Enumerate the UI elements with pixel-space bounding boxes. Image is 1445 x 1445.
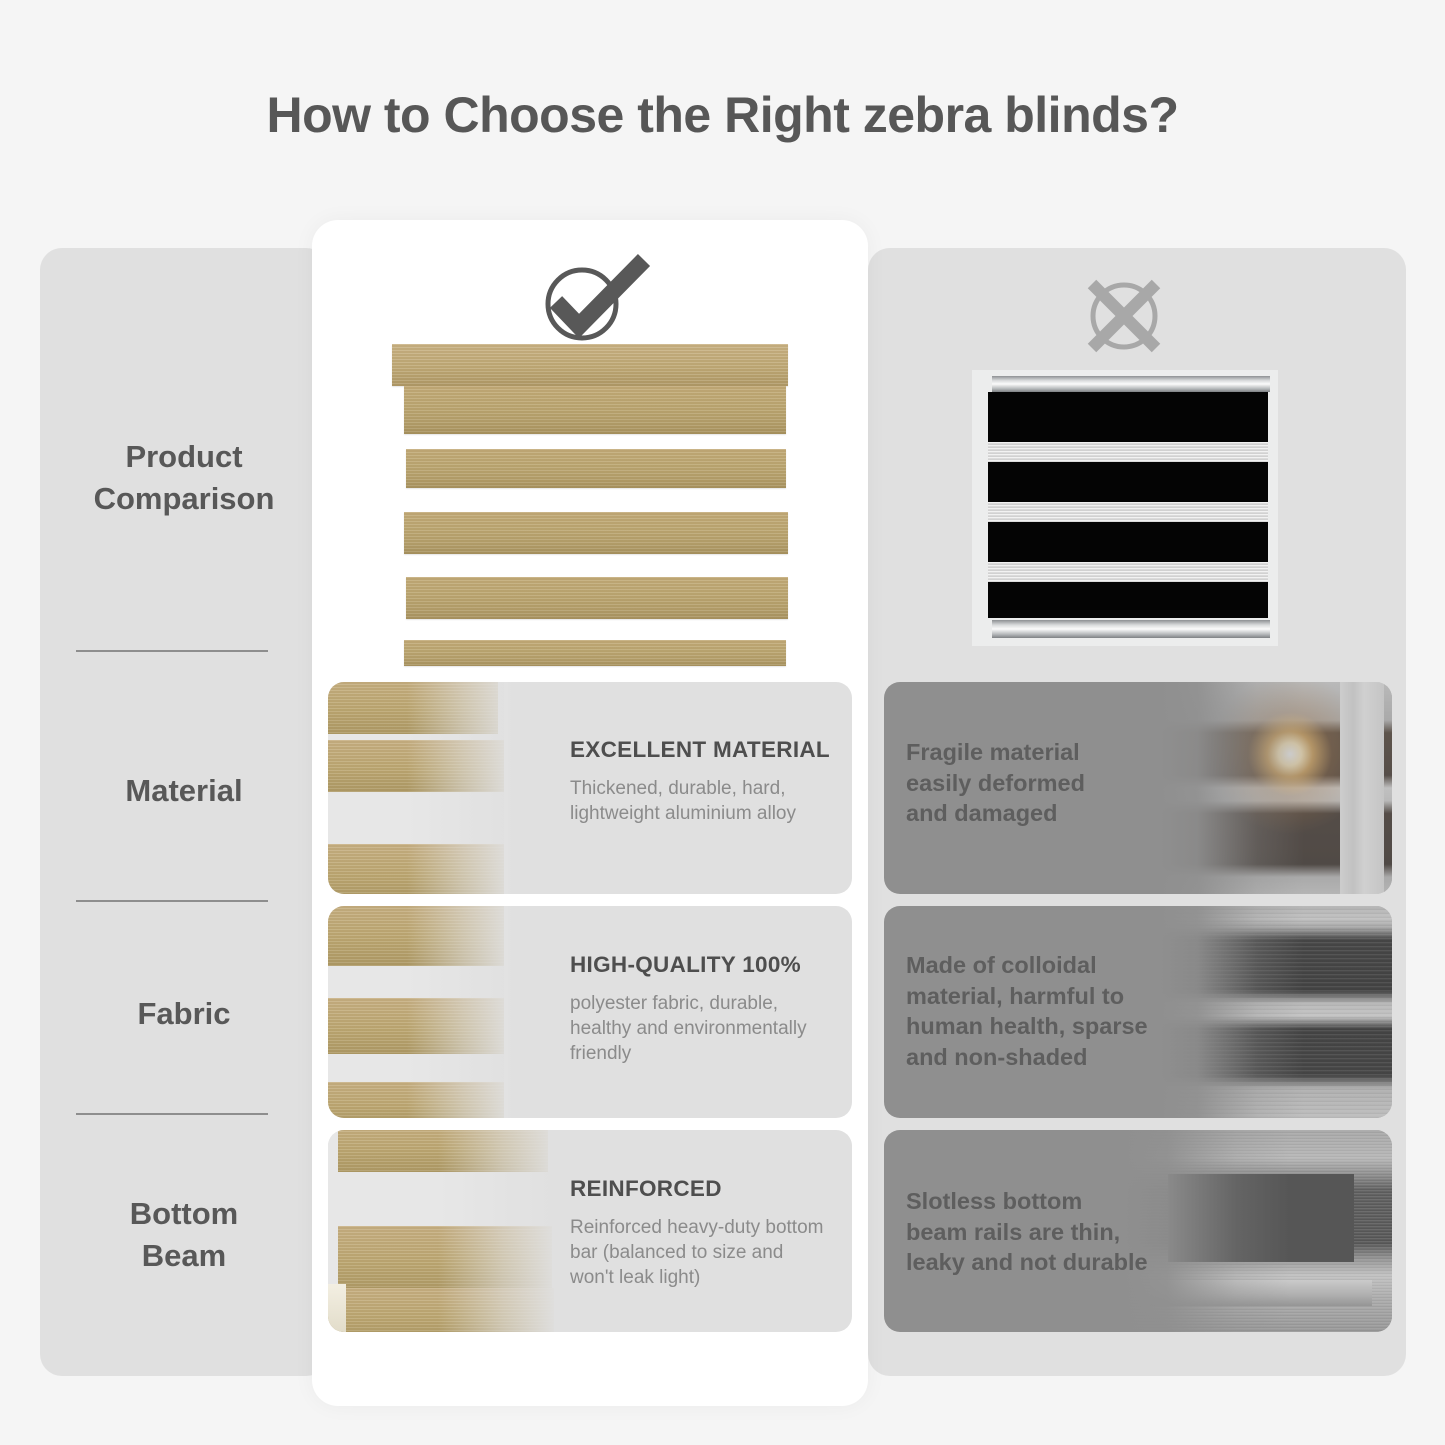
bad-card-fabric: Made of colloidal material, harmful to h…: [884, 906, 1392, 1118]
sidebar-item-label-line1: Bottom: [40, 1193, 328, 1235]
sidebar-item-label-line2: Beam: [40, 1235, 328, 1277]
bad-product-hero-image: [972, 370, 1278, 646]
good-product-hero-image: [392, 344, 788, 666]
bottom-beam-good-heading: REINFORCED: [570, 1176, 842, 1202]
fabric-bad-text-line: and non-shaded: [906, 1042, 1226, 1073]
cross-circle-icon: [1076, 272, 1172, 360]
material-bad-text-line: Fragile material: [906, 737, 1206, 768]
sidebar-divider-2: [76, 900, 268, 902]
bottom-beam-bad-text-line: leaky and not durable: [906, 1247, 1206, 1278]
sidebar-item-label-line1: Material: [40, 770, 328, 812]
sidebar-item-product-comparison: Product Comparison: [40, 436, 328, 520]
bottom-beam-bad-text-line: beam rails are thin,: [906, 1217, 1206, 1248]
material-good-body-line: Thickened, durable, hard,: [570, 776, 838, 801]
sidebar-item-label-line2: Comparison: [40, 478, 328, 520]
material-good-body-line: lightweight aluminium alloy: [570, 801, 838, 826]
material-good-heading: EXCELLENT MATERIAL: [570, 737, 838, 763]
fabric-good-body: polyester fabric, durable, healthy and e…: [570, 991, 845, 1066]
material-good-photo: [328, 682, 560, 894]
sidebar-item-label-line1: Product: [40, 436, 328, 478]
sidebar-item-material: Material: [40, 770, 328, 812]
material-bad-text-line: easily deformed: [906, 768, 1206, 799]
fabric-good-body-line: friendly: [570, 1041, 845, 1066]
material-good-text: EXCELLENT MATERIAL Thickened, durable, h…: [570, 737, 838, 826]
bottom-beam-bad-text-line: Slotless bottom: [906, 1186, 1206, 1217]
material-bad-text-line: and damaged: [906, 798, 1206, 829]
fabric-good-body-line: polyester fabric, durable,: [570, 991, 845, 1016]
fabric-good-body-line: healthy and environmentally: [570, 1016, 845, 1041]
bad-card-material: Fragile material easily deformed and dam…: [884, 682, 1392, 894]
sidebar-item-label-line1: Fabric: [40, 993, 328, 1035]
bottom-beam-good-body-line: bar (balanced to size and: [570, 1240, 842, 1265]
material-good-body: Thickened, durable, hard, lightweight al…: [570, 776, 838, 826]
good-card-fabric: HIGH-QUALITY 100% polyester fabric, dura…: [328, 906, 852, 1118]
sidebar-item-bottom-beam: Bottom Beam: [40, 1193, 328, 1277]
bottom-beam-good-body: Reinforced heavy-duty bottom bar (balanc…: [570, 1215, 842, 1290]
check-circle-icon: [534, 252, 652, 344]
bottom-beam-bad-description: Slotless bottom beam rails are thin, lea…: [906, 1186, 1206, 1278]
fabric-good-heading: HIGH-QUALITY 100%: [570, 952, 845, 978]
good-card-material: EXCELLENT MATERIAL Thickened, durable, h…: [328, 682, 852, 894]
fabric-bad-text: Made of colloidal material, harmful to h…: [906, 950, 1226, 1072]
material-bad-text: Fragile material easily deformed and dam…: [906, 737, 1206, 829]
fabric-good-text: HIGH-QUALITY 100% polyester fabric, dura…: [570, 952, 845, 1066]
bottom-beam-good-body-line: won't leak light): [570, 1265, 842, 1290]
fabric-good-photo: [328, 906, 560, 1118]
bottom-beam-good-photo: [328, 1130, 578, 1332]
good-card-bottom-beam: REINFORCED Reinforced heavy-duty bottom …: [328, 1130, 852, 1332]
fabric-bad-text-line: material, harmful to: [906, 981, 1226, 1012]
fabric-bad-description: Made of colloidal material, harmful to h…: [906, 950, 1226, 1072]
bottom-beam-good-text: REINFORCED Reinforced heavy-duty bottom …: [570, 1176, 842, 1290]
bottom-beam-good-body-line: Reinforced heavy-duty bottom: [570, 1215, 842, 1240]
page-title: How to Choose the Right zebra blinds?: [0, 86, 1445, 144]
material-bad-description: Fragile material easily deformed and dam…: [906, 737, 1206, 829]
sidebar-item-fabric: Fabric: [40, 993, 328, 1035]
fabric-bad-text-line: human health, sparse: [906, 1011, 1226, 1042]
bottom-beam-bad-text: Slotless bottom beam rails are thin, lea…: [906, 1186, 1206, 1278]
bad-card-bottom-beam: Slotless bottom beam rails are thin, lea…: [884, 1130, 1392, 1332]
sidebar-divider-1: [76, 650, 268, 652]
sidebar-divider-3: [76, 1113, 268, 1115]
fabric-bad-text-line: Made of colloidal: [906, 950, 1226, 981]
